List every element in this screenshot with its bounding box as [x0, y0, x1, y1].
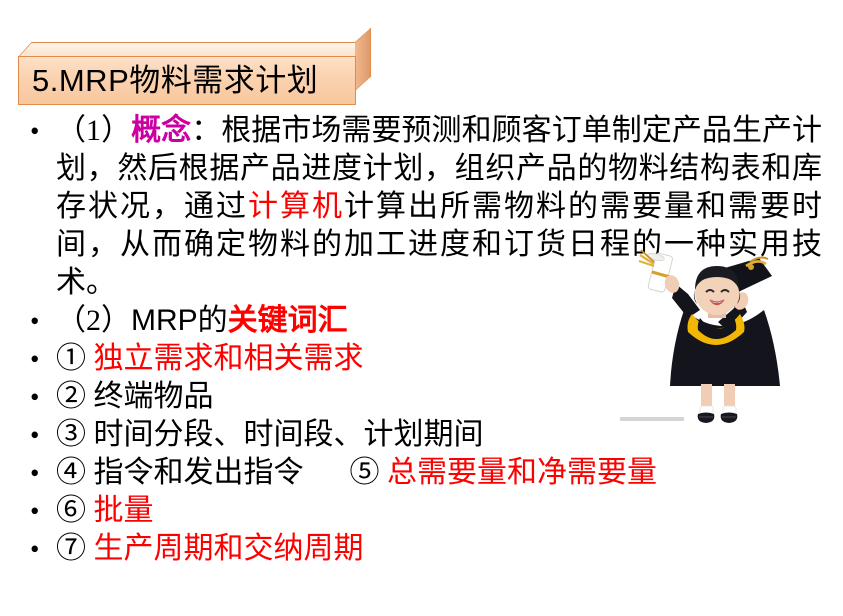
bullet-item-circle-6: • ⑥ 批量 — [22, 492, 822, 530]
item-circle-4-plain: 指令和发出指令 — [94, 456, 304, 489]
item-circle-2-plain: 终端物品 — [94, 380, 214, 413]
item-circle-7-marker: ⑦ — [56, 532, 86, 565]
item-circle-1-marker: ① — [56, 342, 86, 375]
item-circle-7-text: ⑦ 生产周期和交纳周期 — [56, 530, 364, 568]
bullet-marker: • — [22, 112, 56, 150]
slide-canvas: 5.MRP物料需求计划 • （1）概念：根据市场需要预测和顾客订单制定产品生产计… — [0, 0, 843, 616]
bullet-marker: • — [22, 530, 56, 568]
bullet-marker: • — [22, 340, 56, 378]
paragraph-1-keyword: 概念 — [131, 114, 191, 147]
item-circle-2-text: ② 终端物品 — [56, 378, 214, 416]
item-circle-1-accent: 独立需求和相关需求 — [94, 342, 364, 375]
bullet-item-circle-4: • ④ 指令和发出指令⑤ 总需要量和净需要量 — [22, 454, 822, 492]
paragraph-1-label: （1） — [56, 114, 131, 147]
item-circle-2-marker: ② — [56, 380, 86, 413]
bullet-marker: • — [22, 302, 56, 340]
item-circle-5-marker: ⑤ — [350, 456, 380, 489]
page-title: 5.MRP物料需求计划 — [32, 65, 318, 96]
photo-watermark — [620, 417, 684, 421]
item-circle-6-marker: ⑥ — [56, 494, 86, 527]
item-circle-5-accent: 总需要量和净需要量 — [387, 456, 657, 489]
slide-title-box: 5.MRP物料需求计划 — [18, 42, 356, 105]
item-2-label: （2） — [56, 304, 131, 337]
bullet-item-circle-7: • ⑦ 生产周期和交纳周期 — [22, 530, 822, 568]
paragraph-1-colon: ： — [191, 114, 221, 147]
item-circle-6-text: ⑥ 批量 — [56, 492, 154, 530]
item-circle-1-text: ① 独立需求和相关需求 — [56, 340, 364, 378]
title-box-front-face: 5.MRP物料需求计划 — [18, 56, 356, 105]
graduation-child-photo — [614, 248, 829, 433]
title-box-top-face — [18, 42, 370, 57]
item-circle-3-plain: 时间分段、时间段、计划期间 — [94, 418, 484, 451]
bullet-marker: • — [22, 416, 56, 454]
item-circle-6-accent: 批量 — [94, 494, 154, 527]
item-2-text: （2）MRP的关键词汇 — [56, 302, 348, 340]
item-2-plain: MRP的 — [131, 304, 228, 337]
bullet-marker: • — [22, 492, 56, 530]
item-circle-4-text: ④ 指令和发出指令⑤ 总需要量和净需要量 — [56, 454, 657, 492]
item-circle-3-marker: ③ — [56, 418, 86, 451]
paragraph-1-highlight: 计算机 — [248, 190, 344, 223]
item-2-accent: 关键词汇 — [228, 304, 348, 337]
bullet-marker: • — [22, 454, 56, 492]
item-circle-3-text: ③ 时间分段、时间段、计划期间 — [56, 416, 484, 454]
item-circle-7-accent: 生产周期和交纳周期 — [94, 532, 364, 565]
bullet-marker: • — [22, 378, 56, 416]
item-circle-4-marker: ④ — [56, 456, 86, 489]
title-box-side-face — [355, 28, 371, 91]
